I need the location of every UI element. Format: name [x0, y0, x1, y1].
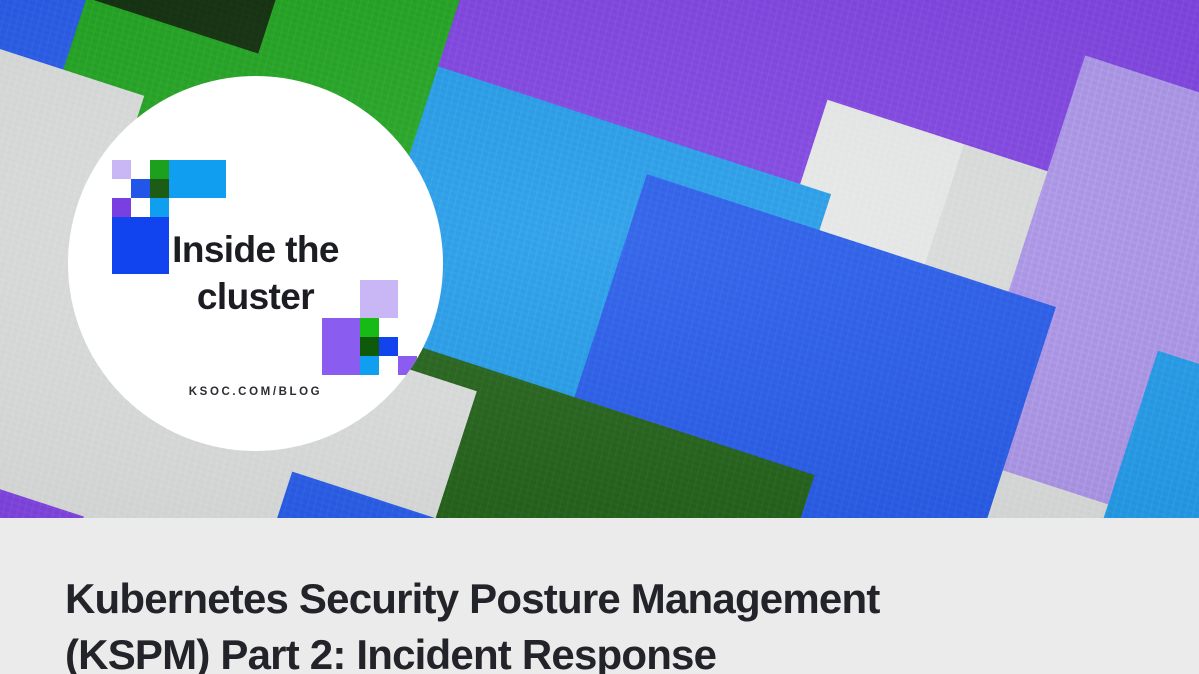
pixel-block — [112, 160, 131, 179]
pixel-block — [360, 337, 379, 356]
pixel-block — [360, 318, 379, 337]
post-title-bar: Kubernetes Security Posture Management (… — [0, 518, 1199, 674]
badge-title: Inside the cluster — [68, 226, 443, 320]
pixel-block — [322, 318, 360, 375]
pixel-block — [131, 179, 150, 198]
pixel-block — [379, 318, 398, 337]
pixel-block — [112, 198, 131, 217]
badge-url-label: KSOC.COM/BLOG — [68, 386, 443, 398]
blog-hero-card: Inside the cluster KSOC.COM/BLOG Kuberne… — [0, 0, 1199, 674]
pixel-block — [150, 179, 169, 198]
inside-the-cluster-badge: Inside the cluster KSOC.COM/BLOG — [68, 76, 443, 451]
pixel-block — [398, 356, 417, 375]
pixel-block — [169, 160, 226, 198]
pixel-block — [131, 198, 150, 217]
pixel-block — [150, 160, 169, 179]
pixel-block — [379, 337, 398, 356]
post-title: Kubernetes Security Posture Management (… — [65, 571, 1025, 674]
pixel-block — [150, 198, 169, 217]
hero-artwork: Inside the cluster KSOC.COM/BLOG — [0, 0, 1199, 518]
pixel-block — [360, 356, 379, 375]
